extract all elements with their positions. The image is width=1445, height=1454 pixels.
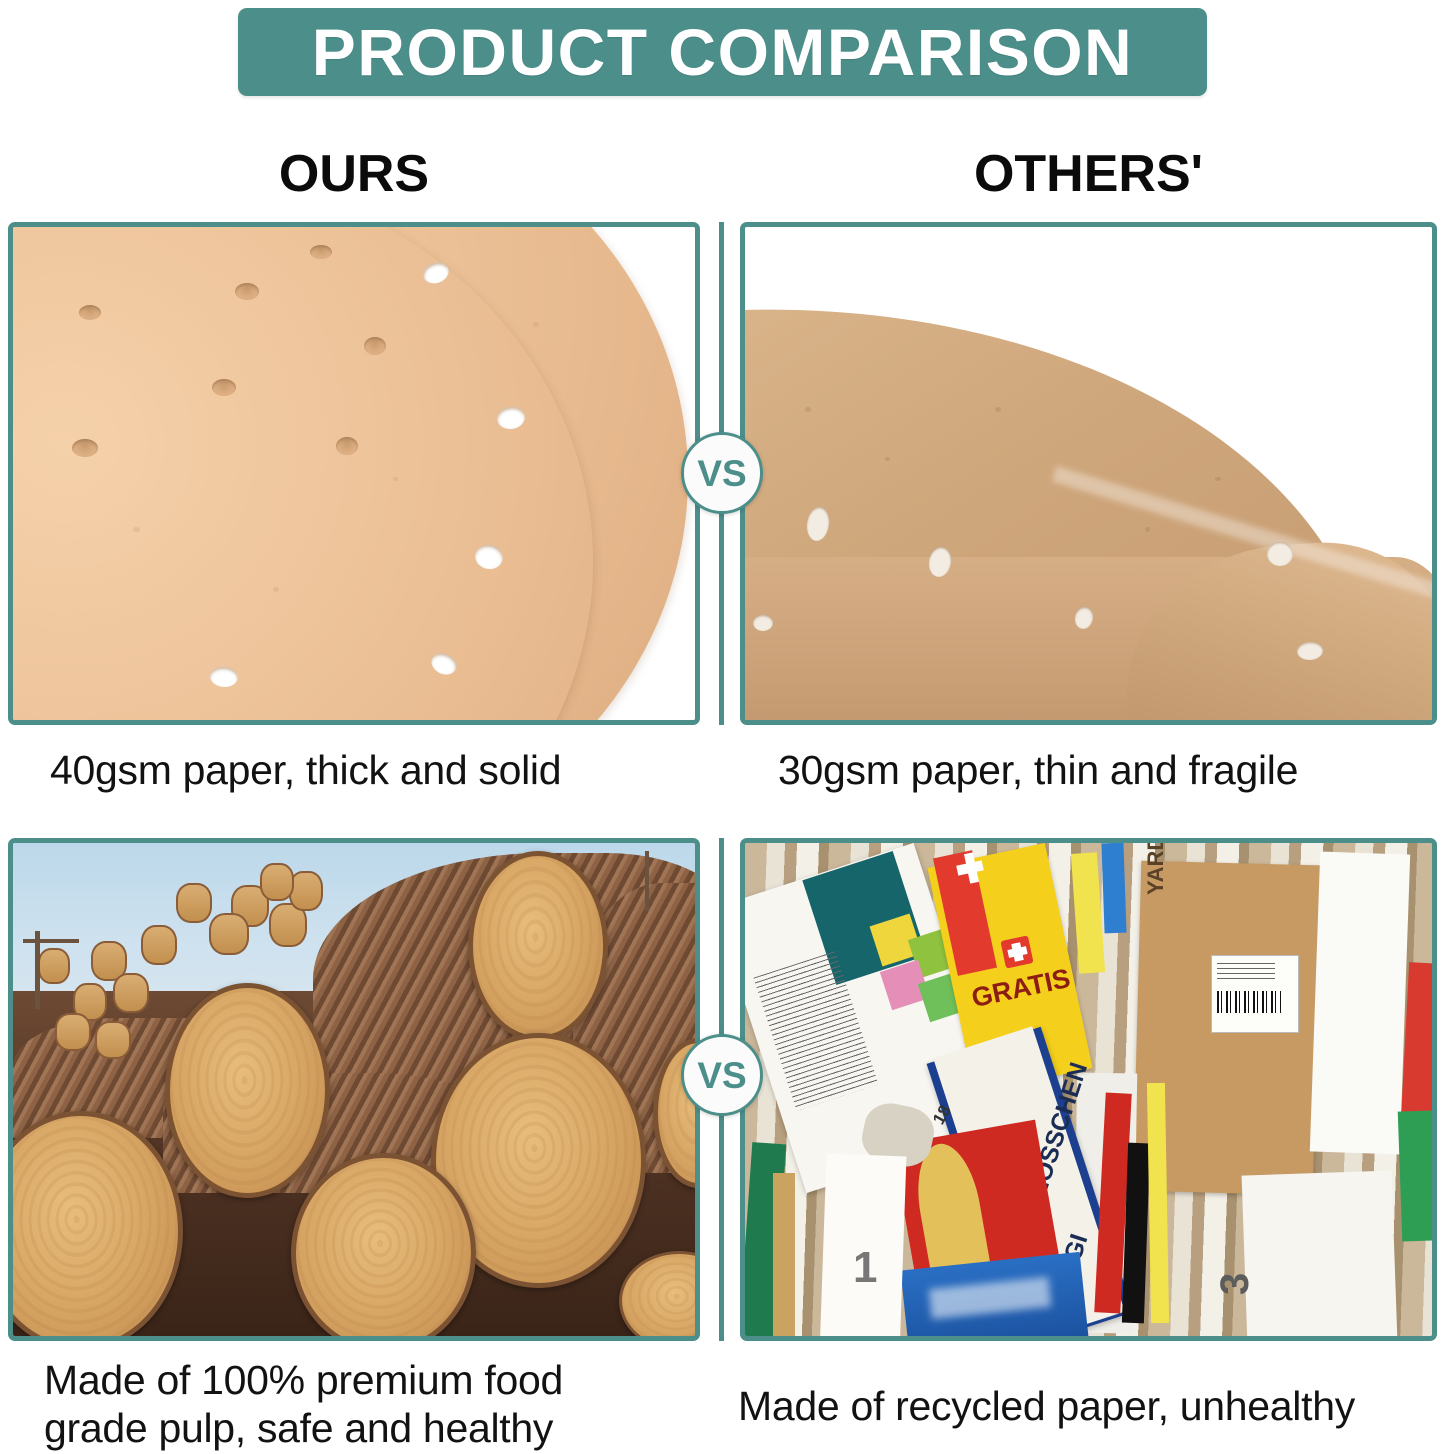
page-title: PRODUCT COMPARISON — [312, 19, 1133, 85]
scrap-brand-yard: YARD — [1143, 843, 1169, 895]
caption-ours-paper: 40gsm paper, thick and solid — [50, 746, 710, 794]
image-thin-curled-sheet — [745, 227, 1432, 720]
caption-others-paper: 30gsm paper, thin and fragile — [778, 746, 1445, 794]
panel-others-paper — [740, 222, 1437, 725]
image-recycled-paper-bale: YARD GRATIS — [745, 843, 1432, 1336]
scrap-number-1: 1 — [853, 1243, 877, 1293]
column-heading-others: OTHERS' — [740, 148, 1437, 200]
header-banner: PRODUCT COMPARISON — [238, 8, 1207, 96]
image-parchment-rounds — [13, 227, 695, 720]
image-timber-logs — [13, 843, 695, 1336]
caption-ours-material-line2: grade pulp, safe and healthy — [44, 1404, 684, 1452]
product-comparison-infographic: PRODUCT COMPARISON OURS OTHERS' — [0, 0, 1445, 1454]
panel-ours-material — [8, 838, 700, 1341]
panel-ours-paper — [8, 222, 700, 725]
scrap-number-3: 3 — [1213, 1273, 1258, 1295]
caption-ours-material: Made of 100% premium food grade pulp, sa… — [44, 1356, 684, 1453]
vs-badge-row-2: VS — [681, 1034, 763, 1116]
caption-others-material: Made of recycled paper, unhealthy — [738, 1382, 1445, 1430]
column-heading-ours: OURS — [8, 148, 700, 200]
vs-badge-row-1: VS — [681, 432, 763, 514]
panel-others-material: YARD GRATIS — [740, 838, 1437, 1341]
vs-label: VS — [697, 1057, 746, 1094]
caption-ours-material-line1: Made of 100% premium food — [44, 1356, 684, 1404]
vs-label: VS — [697, 455, 746, 492]
